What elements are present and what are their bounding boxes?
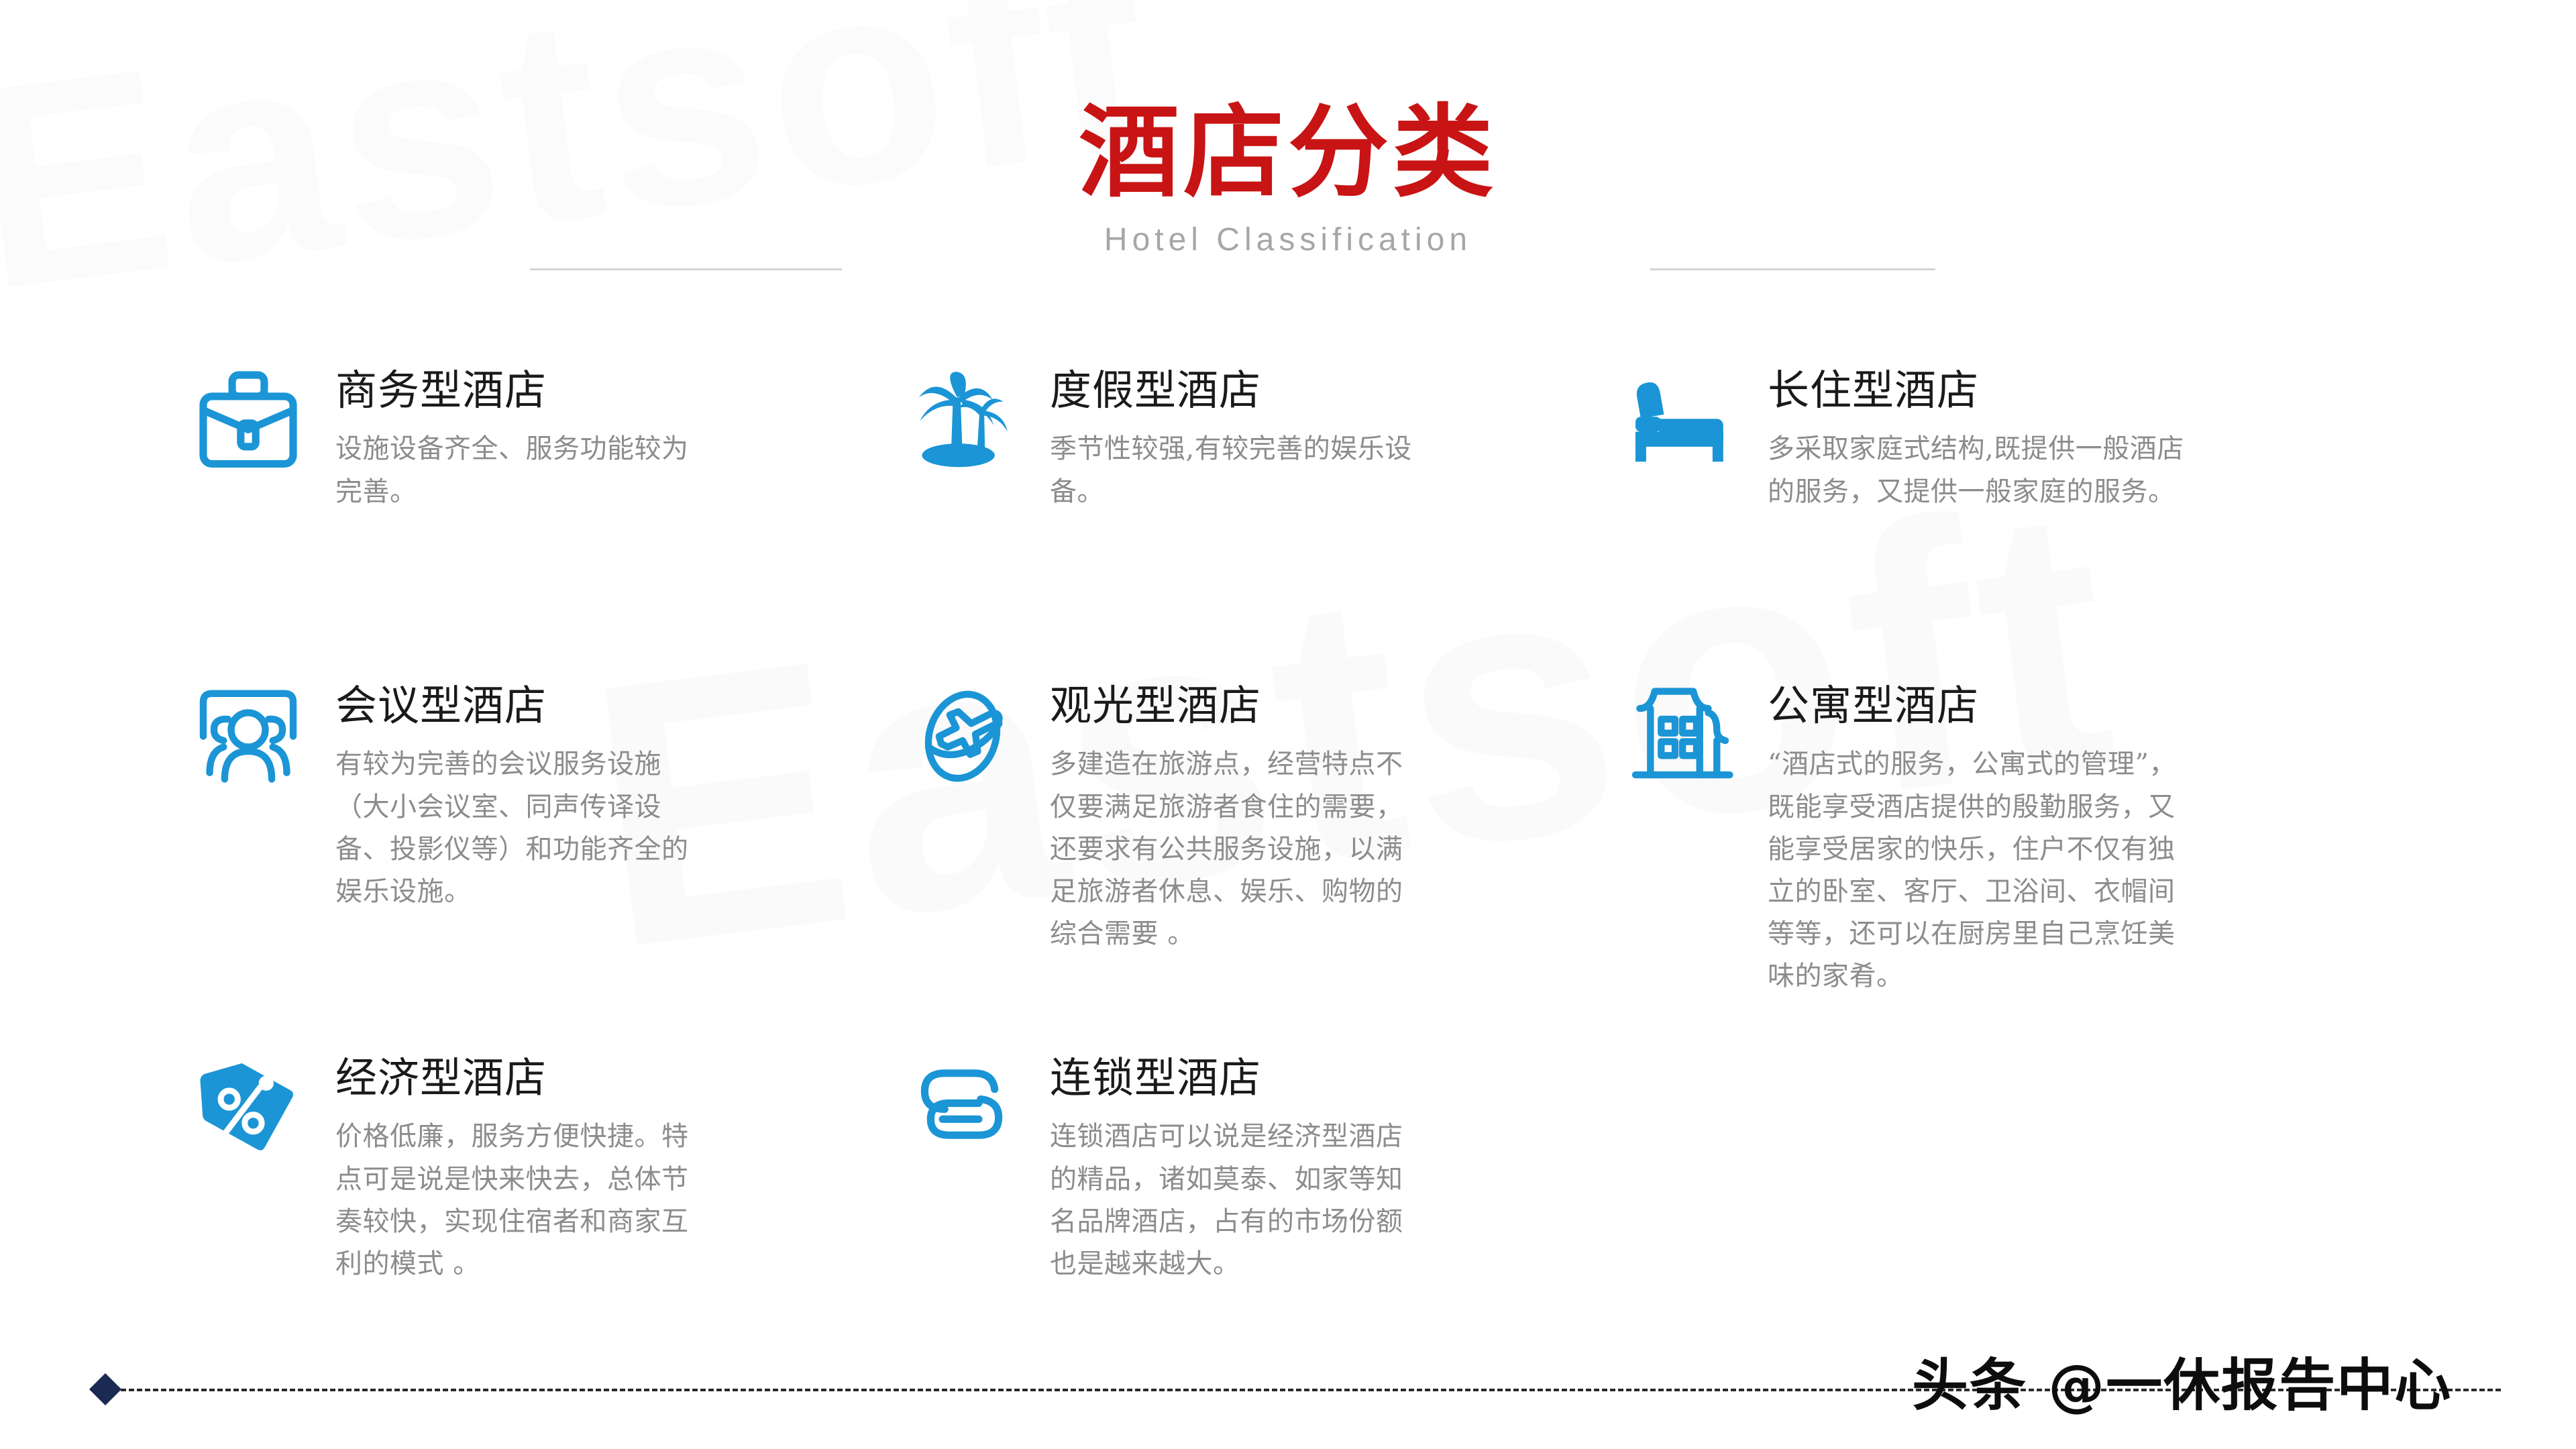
category-title: 经济型酒店 [335,1055,698,1101]
header-divider-left [530,268,842,270]
category-description: 多建造在旅游点，经营特点不仅要满足旅游者食住的需要，还要求有公共服务设施，以满足… [1050,743,1412,955]
footer-watermark: 头条 @一休报告中心 [1912,1340,2452,1421]
category-description: 有较为完善的会议服务设施（大小会议室、同声传译设备、投影仪等）和功能齐全的娱乐设… [335,743,698,913]
palm-tree-icon [909,366,1050,490]
category-item-sightseeing[interactable]: 观光型酒店 多建造在旅游点，经营特点不仅要满足旅游者食住的需要，还要求有公共服务… [909,681,1513,955]
footer-diamond-marker [89,1373,121,1405]
category-description: 设施设备齐全、服务功能较为完善。 [335,428,698,513]
apartment-building-icon [1627,681,1768,806]
category-description: 价格低廉，服务方便快捷。特点可是说是快来快去，总体节奏较快，实现住宿者和商家互利… [335,1116,698,1285]
category-item-resort[interactable]: 度假型酒店 季节性较强,有较完善的娱乐设备。 [909,366,1513,513]
category-title: 公寓型酒店 [1768,682,2197,729]
category-item-business[interactable]: 商务型酒店 设施设备齐全、服务功能较为完善。 [195,366,798,513]
category-title: 商务型酒店 [335,367,698,413]
category-title: 观光型酒店 [1050,682,1412,729]
category-item-chain[interactable]: 连锁型酒店 连锁酒店可以说是经济型酒店的精品，诸如莫泰、如家等知名品牌酒店，占有… [909,1053,1513,1285]
category-title: 连锁型酒店 [1050,1055,1412,1101]
airplane-orbit-icon [909,681,1050,806]
category-description: 连锁酒店可以说是经济型酒店的精品，诸如莫泰、如家等知名品牌酒店，占有的市场份额也… [1050,1116,1412,1285]
page-title: 酒店分类 [0,101,2576,207]
page-header: 酒店分类 Hotel Classification [0,101,2576,258]
category-item-longstay[interactable]: 长住型酒店 多采取家庭式结构,既提供一般酒店的服务，又提供一般家庭的服务。 [1627,366,2231,513]
category-title: 会议型酒店 [335,682,698,729]
bed-icon [1627,366,1768,490]
page-subtitle: Hotel Classification [0,221,2576,258]
category-item-apartment[interactable]: 公寓型酒店 “酒店式的服务，公寓式的管理”，既能享受酒店提供的殷勤服务，又能享受… [1627,681,2231,998]
people-group-icon [195,681,335,806]
category-description: 季节性较强,有较完善的娱乐设备。 [1050,428,1412,513]
category-description: “酒店式的服务，公寓式的管理”，既能享受酒店提供的殷勤服务，又能享受居家的快乐，… [1768,743,2197,998]
category-title: 长住型酒店 [1768,367,2197,413]
category-item-economy[interactable]: 经济型酒店 价格低廉，服务方便快捷。特点可是说是快来快去，总体节奏较快，实现住宿… [195,1053,798,1285]
briefcase-icon [195,366,335,490]
percent-tag-icon [195,1053,335,1178]
category-description: 多采取家庭式结构,既提供一般酒店的服务，又提供一般家庭的服务。 [1768,428,2197,513]
header-divider-right [1650,268,1935,270]
chain-link-icon [909,1053,1050,1178]
category-title: 度假型酒店 [1050,367,1412,413]
category-item-conference[interactable]: 会议型酒店 有较为完善的会议服务设施（大小会议室、同声传译设备、投影仪等）和功能… [195,681,798,913]
